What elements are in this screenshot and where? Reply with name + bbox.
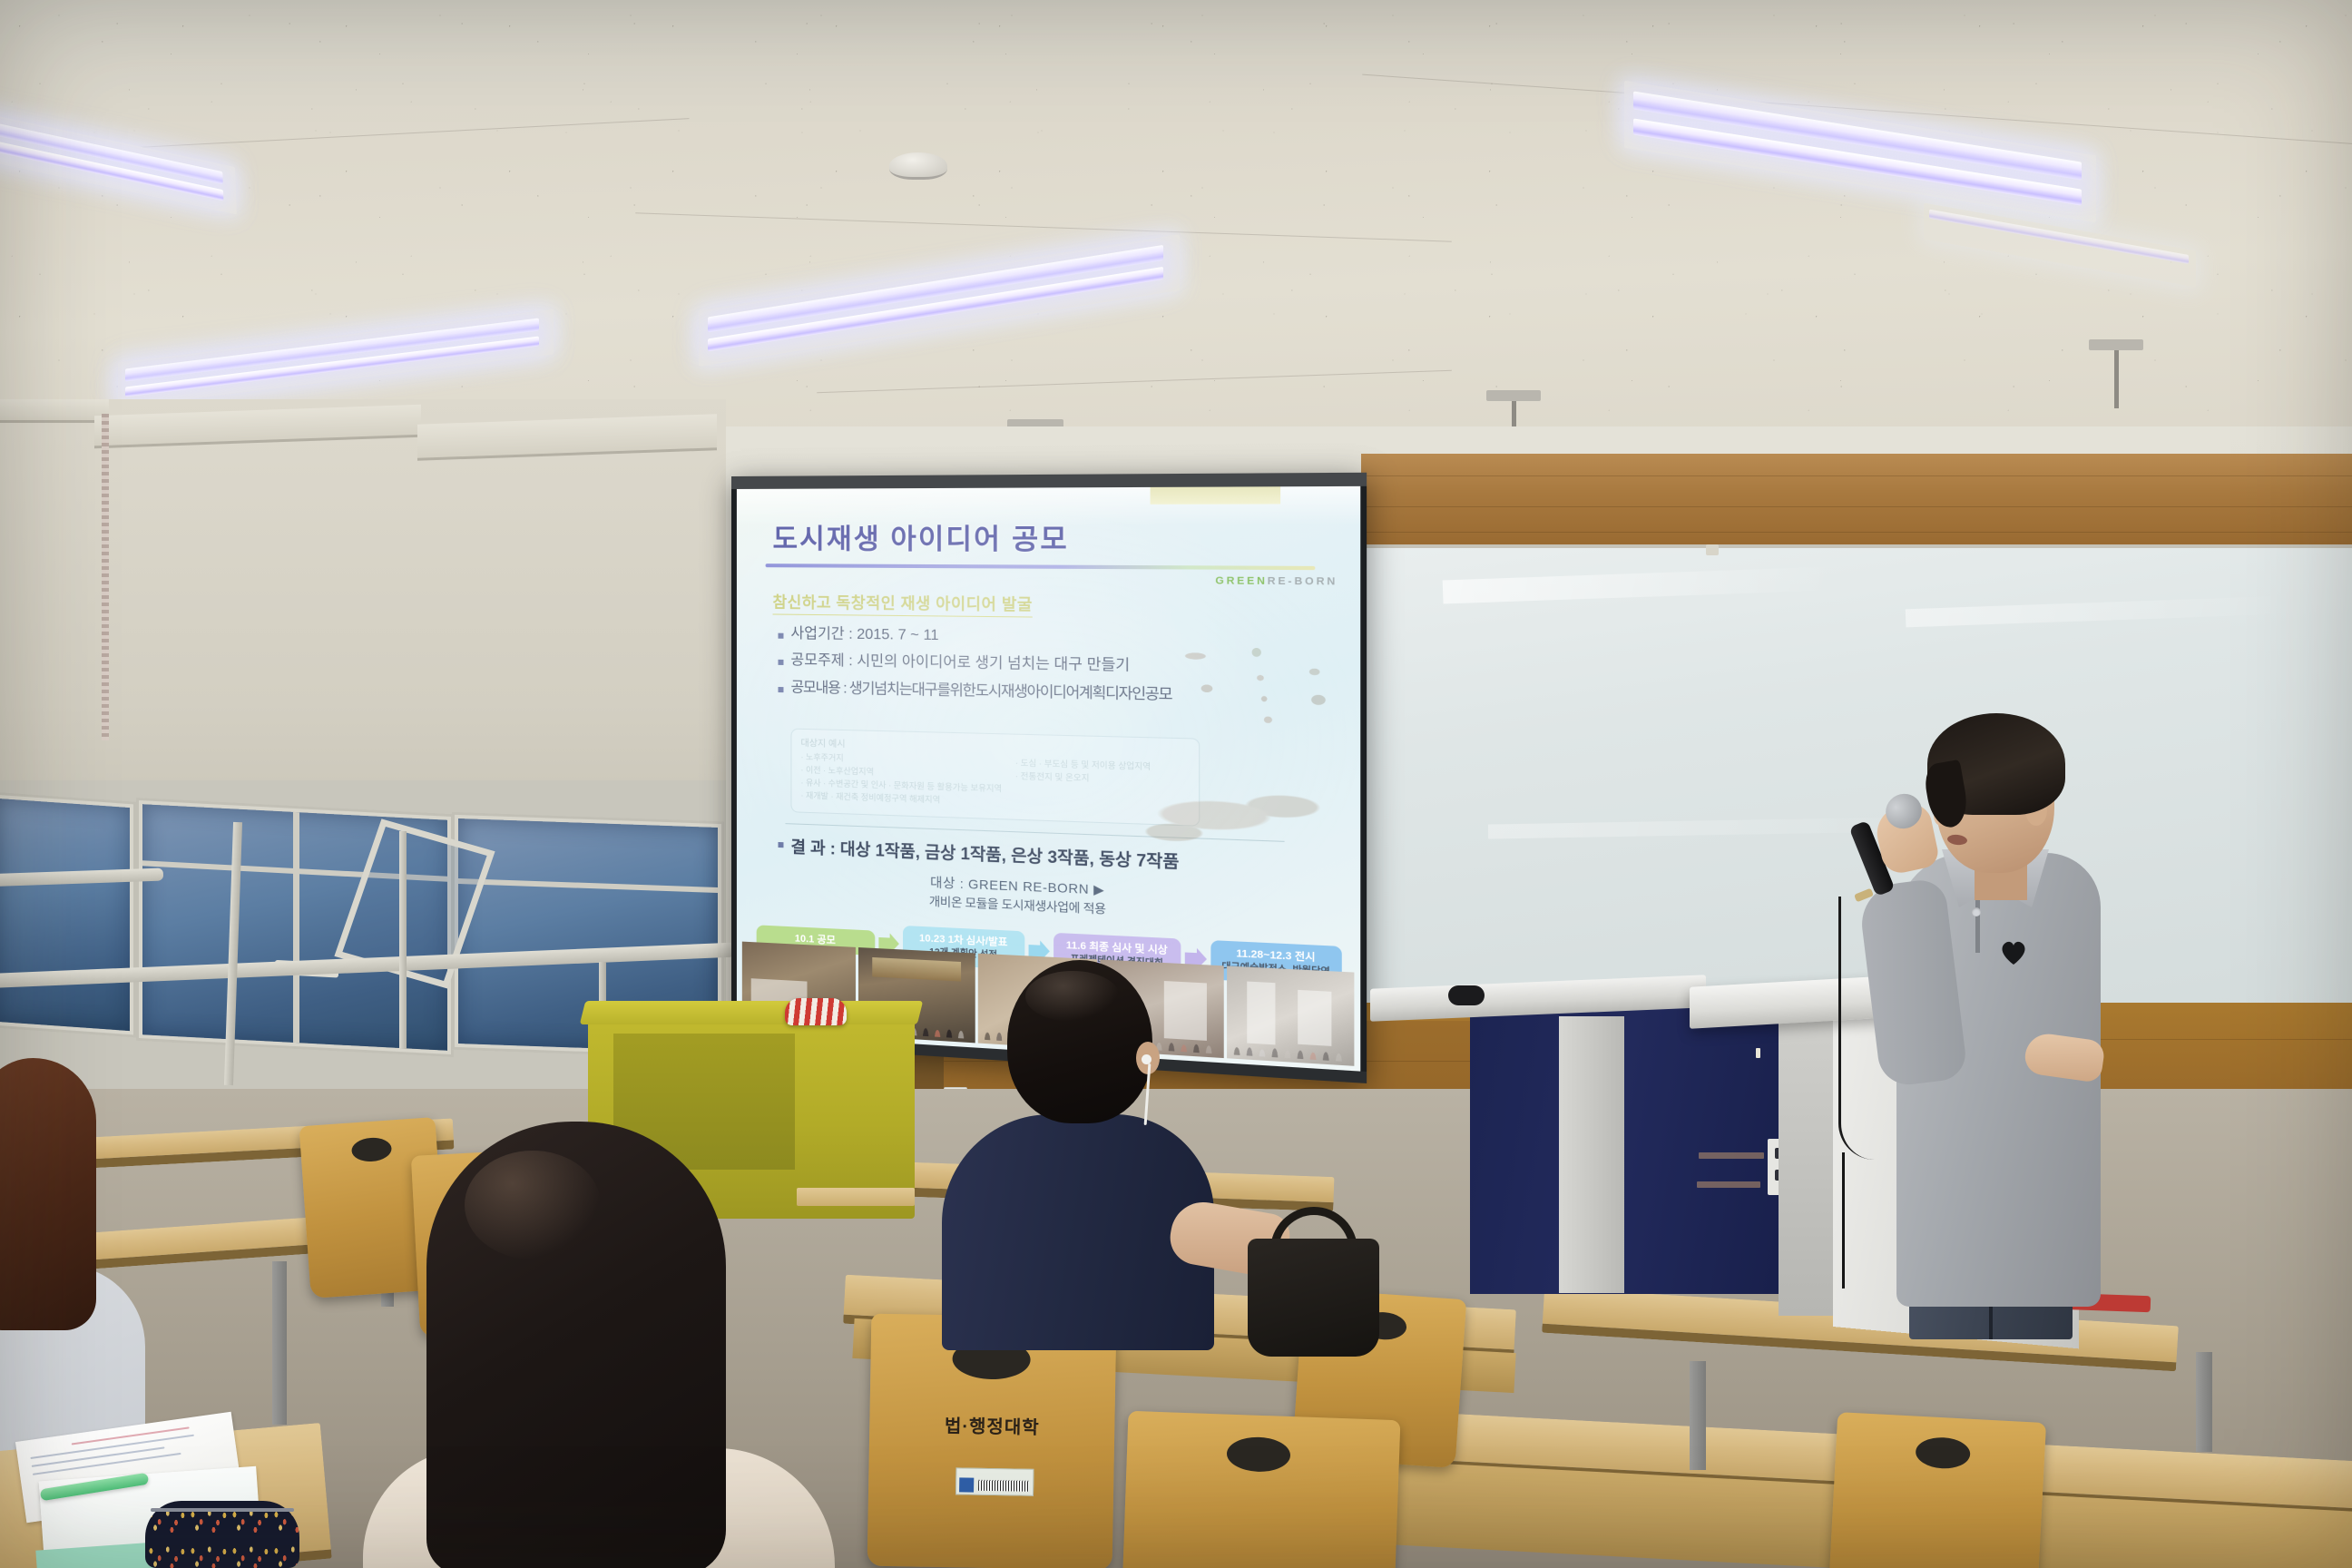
bullet-square-icon [779,633,784,639]
slide-title: 도시재생 아이디어 공모 [773,516,1069,558]
desk-leg [2196,1352,2212,1452]
chair[interactable] [1828,1412,2046,1568]
audience-navy-hair-highlight [1025,971,1120,1022]
bullet-square-icon [779,660,784,665]
green-reborn-logo: GREENRE-BORN [1215,575,1338,588]
logo-word-green: GREEN [1215,575,1267,587]
slide-title-rule [766,563,1316,570]
whiteboard-clip [1706,544,1719,555]
blind-pull-chain[interactable] [102,414,109,740]
lectern-cable-clip [1448,985,1485,1005]
slide-subtitle: 참신하고 독창적인 재생 아이디어 발굴 [773,589,1033,617]
desk-leg [1690,1361,1706,1470]
cabinet-silver-strip [1559,1016,1624,1293]
slide-award-note: 대상 : GREEN RE-BORN ▶ 개비온 모듈을 도시재생사업에 적용 [929,873,1106,917]
audience-left-hair [0,1058,96,1330]
projector-mount-plate [2089,339,2143,350]
cabinet-side-shelf [797,1188,915,1206]
projector-mount-rod [2114,347,2119,408]
chair-labeled[interactable]: 법·행정대학 [867,1314,1117,1568]
bullet-text: 공모주제 : 시민의 아이디어로 생기 넘치는 대구 만들기 [790,652,1130,675]
earphone-icon [1142,1054,1151,1064]
pencil-case[interactable] [145,1501,299,1568]
presenter-shirt-button [1972,907,1981,916]
window-pane-left[interactable] [0,791,136,1037]
slide-result-text: 결 과 : 대상 1작품, 금상 1작품, 은상 3작품, 동상 7작품 [790,834,1179,873]
slide-result-row: 결 과 : 대상 1작품, 금상 1작품, 은상 3작품, 동상 7작품 [779,834,1180,874]
wall-wood-panel-upper [1361,454,2352,554]
bullet-square-icon [779,842,784,848]
slide-site-diagram [1151,631,1342,750]
projector-mount-plate [1486,390,1541,401]
bullet-square-icon [779,687,784,692]
chair-department-label: 법·행정대학 [869,1410,1114,1441]
bullet-text: 공모내용 : 생기넘치는대구를위한도시재생아이디어계획디자인공모 [790,680,1171,704]
pencil-case-zipper[interactable] [151,1508,294,1512]
left-wall [0,399,726,835]
event-photo [1227,966,1354,1066]
striped-bag [785,998,847,1025]
cabinet-label-strip [1697,1181,1760,1188]
infobox-left-column: · 노후주거지 · 이전 · 노후산업지역 · 유사 · 수변공간 및 인사 ·… [800,751,1002,809]
window-blind-housing [0,399,109,423]
slide-decor-tab [1151,486,1281,505]
handbag [1248,1239,1379,1357]
chair[interactable] [1122,1411,1401,1568]
bullet-text: 사업기간 : 2015. 7 ~ 11 [790,626,938,645]
logo-word-reborn: RE-BORN [1268,575,1338,587]
smoke-detector-icon [889,152,947,180]
audience-longhair-highlight [465,1151,601,1259]
cabinet-top-surface [580,1001,923,1024]
slide-award-render [1134,765,1336,864]
rail-post [399,831,407,1049]
cabinet-label-strip [1699,1152,1764,1159]
desk-leg [272,1261,287,1425]
classroom-presentation-scene: 도시재생 아이디어 공모 GREENRE-BORN 참신하고 독창적인 재생 아… [0,0,2352,1568]
chair-asset-sticker [955,1467,1034,1495]
power-led-indicator [1756,1048,1760,1058]
